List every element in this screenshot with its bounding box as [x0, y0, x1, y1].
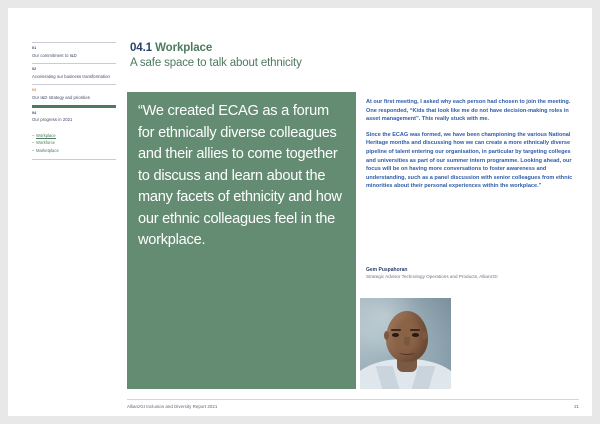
sidebar-subitem-workplace[interactable]: –Workplace [32, 132, 116, 139]
sidebar-item-progress[interactable]: 04 Our progress in 2021 [32, 108, 116, 128]
footer-divider [127, 399, 579, 400]
sidebar-subitem-label: Marketplace [36, 148, 59, 153]
sidebar-item-number: 02 [32, 67, 116, 72]
sidebar-subitem-label: Workplace [36, 133, 56, 139]
sidebar-item-label: Our I&D strategy and priorities [32, 95, 116, 101]
page-title-text: Workplace [155, 42, 212, 54]
footer-page-number: 21 [574, 404, 579, 409]
sidebar-item-number: 03 [32, 88, 116, 93]
sidebar-item-number: 01 [32, 46, 116, 51]
portrait-brow-right [410, 329, 420, 331]
sidebar-subnav: –Workplace –Workforce –Marketplace [32, 128, 116, 159]
pull-quote-panel: “We created ECAG as a forum for ethnical… [127, 92, 356, 389]
body-paragraph: Since the ECAG was formed, we have been … [366, 131, 579, 191]
attribution-role: Strategic Advisor Technology Operations … [366, 274, 579, 280]
quote-attribution: Gem Puspahoran Strategic Advisor Technol… [366, 267, 579, 280]
portrait-eye-right [412, 333, 419, 337]
sidebar-item-commitment[interactable]: 01 Our commitment to I&D [32, 43, 116, 63]
footer-report-title: AllianzGI Inclusion and Diversity Report… [127, 404, 217, 409]
page-heading: 04.1 Workplace A safe space to talk abou… [130, 41, 430, 71]
sidebar-subitem-marketplace[interactable]: –Marketplace [32, 147, 116, 154]
sidebar-item-number: 04 [32, 111, 116, 116]
sidebar-item-transformation[interactable]: 02 Accelerating our business transformat… [32, 64, 116, 84]
sidebar-item-label: Accelerating our business transformation [32, 74, 116, 80]
portrait-ear-left [384, 331, 389, 340]
sidebar-subitem-label: Workforce [36, 140, 55, 145]
nav-divider [32, 159, 116, 160]
portrait-brow-left [391, 329, 401, 331]
sidebar-subitem-workforce[interactable]: –Workforce [32, 139, 116, 146]
portrait-nose [404, 337, 410, 346]
sidebar-item-strategy[interactable]: 03 Our I&D strategy and priorities [32, 85, 116, 105]
body-paragraph: At our first meeting, I asked why each p… [366, 98, 579, 124]
sidebar-item-label: Our progress in 2021 [32, 117, 116, 123]
sidebar-item-label: Our commitment to I&D [32, 53, 116, 59]
document-page: 01 Our commitment to I&D 02 Accelerating… [8, 8, 592, 416]
portrait-eye-left [392, 333, 399, 337]
body-column: At our first meeting, I asked why each p… [366, 98, 579, 191]
portrait-mouth [399, 350, 415, 355]
page-title-number: 04.1 [130, 42, 152, 54]
portrait-photo [360, 298, 451, 389]
attribution-name: Gem Puspahoran [366, 267, 579, 274]
sidebar-nav: 01 Our commitment to I&D 02 Accelerating… [32, 42, 116, 160]
pull-quote-text: “We created ECAG as a forum for ethnical… [138, 101, 344, 252]
portrait-ear-right [422, 331, 427, 340]
page-title: 04.1 Workplace [130, 41, 430, 55]
page-subtitle: A safe space to talk about ethnicity [130, 56, 430, 71]
